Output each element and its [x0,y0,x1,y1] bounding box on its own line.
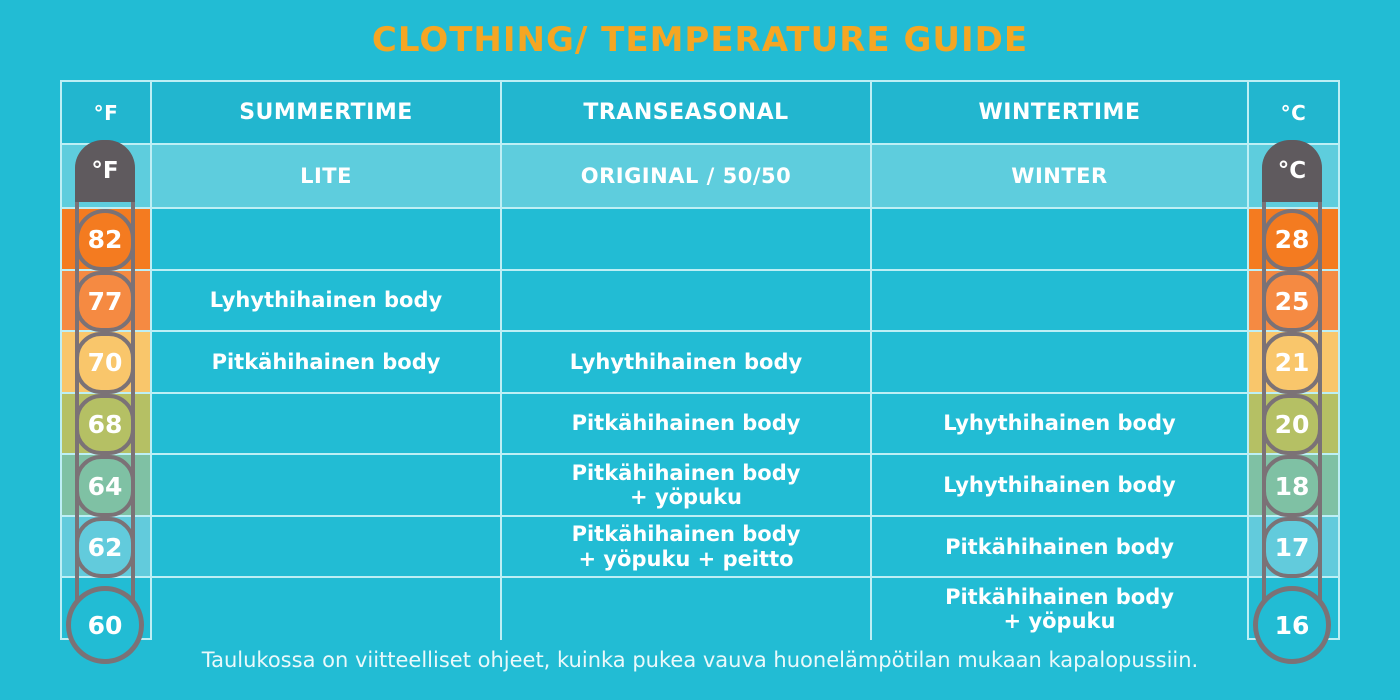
thermometer-segment: 82 [75,209,135,271]
cell-transeasonal: Pitkähihainen body + yöpuku + peitto [502,517,872,577]
cell-transeasonal [502,271,872,331]
cell-transeasonal: Pitkähihainen body + yöpuku [502,455,872,515]
cell-summertime: Pitkähihainen body [152,332,502,392]
subheader-original: ORIGINAL / 50/50 [502,145,872,207]
table-row: Lyhythihainen body [62,271,1338,333]
infographic-page: CLOTHING/ TEMPERATURE GUIDE °F SUMMERTIM… [0,0,1400,700]
cell-summertime [152,517,502,577]
page-title: CLOTHING/ TEMPERATURE GUIDE [0,20,1400,60]
subheader-lite: LITE [152,145,502,207]
cell-summertime [152,394,502,454]
thermometer-segment: 25 [1262,271,1322,333]
cell-summertime [152,578,502,640]
table-row: Pitkähihainen body + yöpuku [62,578,1338,640]
cell-wintertime [872,271,1249,331]
header-celsius: °C [1249,82,1338,143]
table-row: Pitkähihainen body + yöpukuLyhythihainen… [62,455,1338,517]
cell-wintertime [872,209,1249,269]
table-row: Pitkähihainen bodyLyhythihainen body [62,394,1338,456]
clothing-temperature-table: °F SUMMERTIME TRANSEASONAL WINTERTIME °C… [60,80,1340,640]
table-subheader-row: LITE ORIGINAL / 50/50 WINTER [62,145,1338,209]
cell-summertime [152,209,502,269]
thermometer-bulb: 16 [1253,586,1331,664]
cell-wintertime: Lyhythihainen body [872,455,1249,515]
thermometer-segment: 20 [1262,394,1322,456]
cell-transeasonal [502,578,872,640]
subheader-winter: WINTER [872,145,1249,207]
cell-wintertime: Pitkähihainen body [872,517,1249,577]
cell-wintertime: Lyhythihainen body [872,394,1249,454]
cell-summertime [152,455,502,515]
header-transeasonal: TRANSEASONAL [502,82,872,143]
thermometer-scale-label: °C [1262,140,1322,202]
cell-transeasonal: Lyhythihainen body [502,332,872,392]
thermometer-segment: 28 [1262,209,1322,271]
thermometer-segment: 64 [75,455,135,517]
thermometer-segment: 21 [1262,332,1322,394]
cell-transeasonal: Pitkähihainen body [502,394,872,454]
header-fahrenheit: °F [62,82,152,143]
thermometer-segment: 70 [75,332,135,394]
table-row [62,209,1338,271]
thermometer-segment: 68 [75,394,135,456]
cell-summertime: Lyhythihainen body [152,271,502,331]
header-wintertime: WINTERTIME [872,82,1249,143]
cell-wintertime: Pitkähihainen body + yöpuku [872,578,1249,640]
thermometer-segment: 18 [1262,455,1322,517]
table-row: Pitkähihainen body + yöpuku + peittoPitk… [62,517,1338,579]
thermometer-segment: 62 [75,517,135,579]
thermometer-bulb: 60 [66,586,144,664]
thermometer-segment: 77 [75,271,135,333]
cell-wintertime [872,332,1249,392]
footer-note: Taulukossa on viitteelliset ohjeet, kuin… [0,648,1400,672]
table-row: Pitkähihainen bodyLyhythihainen body [62,332,1338,394]
cell-transeasonal [502,209,872,269]
thermometer-segment: 17 [1262,517,1322,579]
table-header-row: °F SUMMERTIME TRANSEASONAL WINTERTIME °C [62,82,1338,145]
header-summertime: SUMMERTIME [152,82,502,143]
thermometer-scale-label: °F [75,140,135,202]
